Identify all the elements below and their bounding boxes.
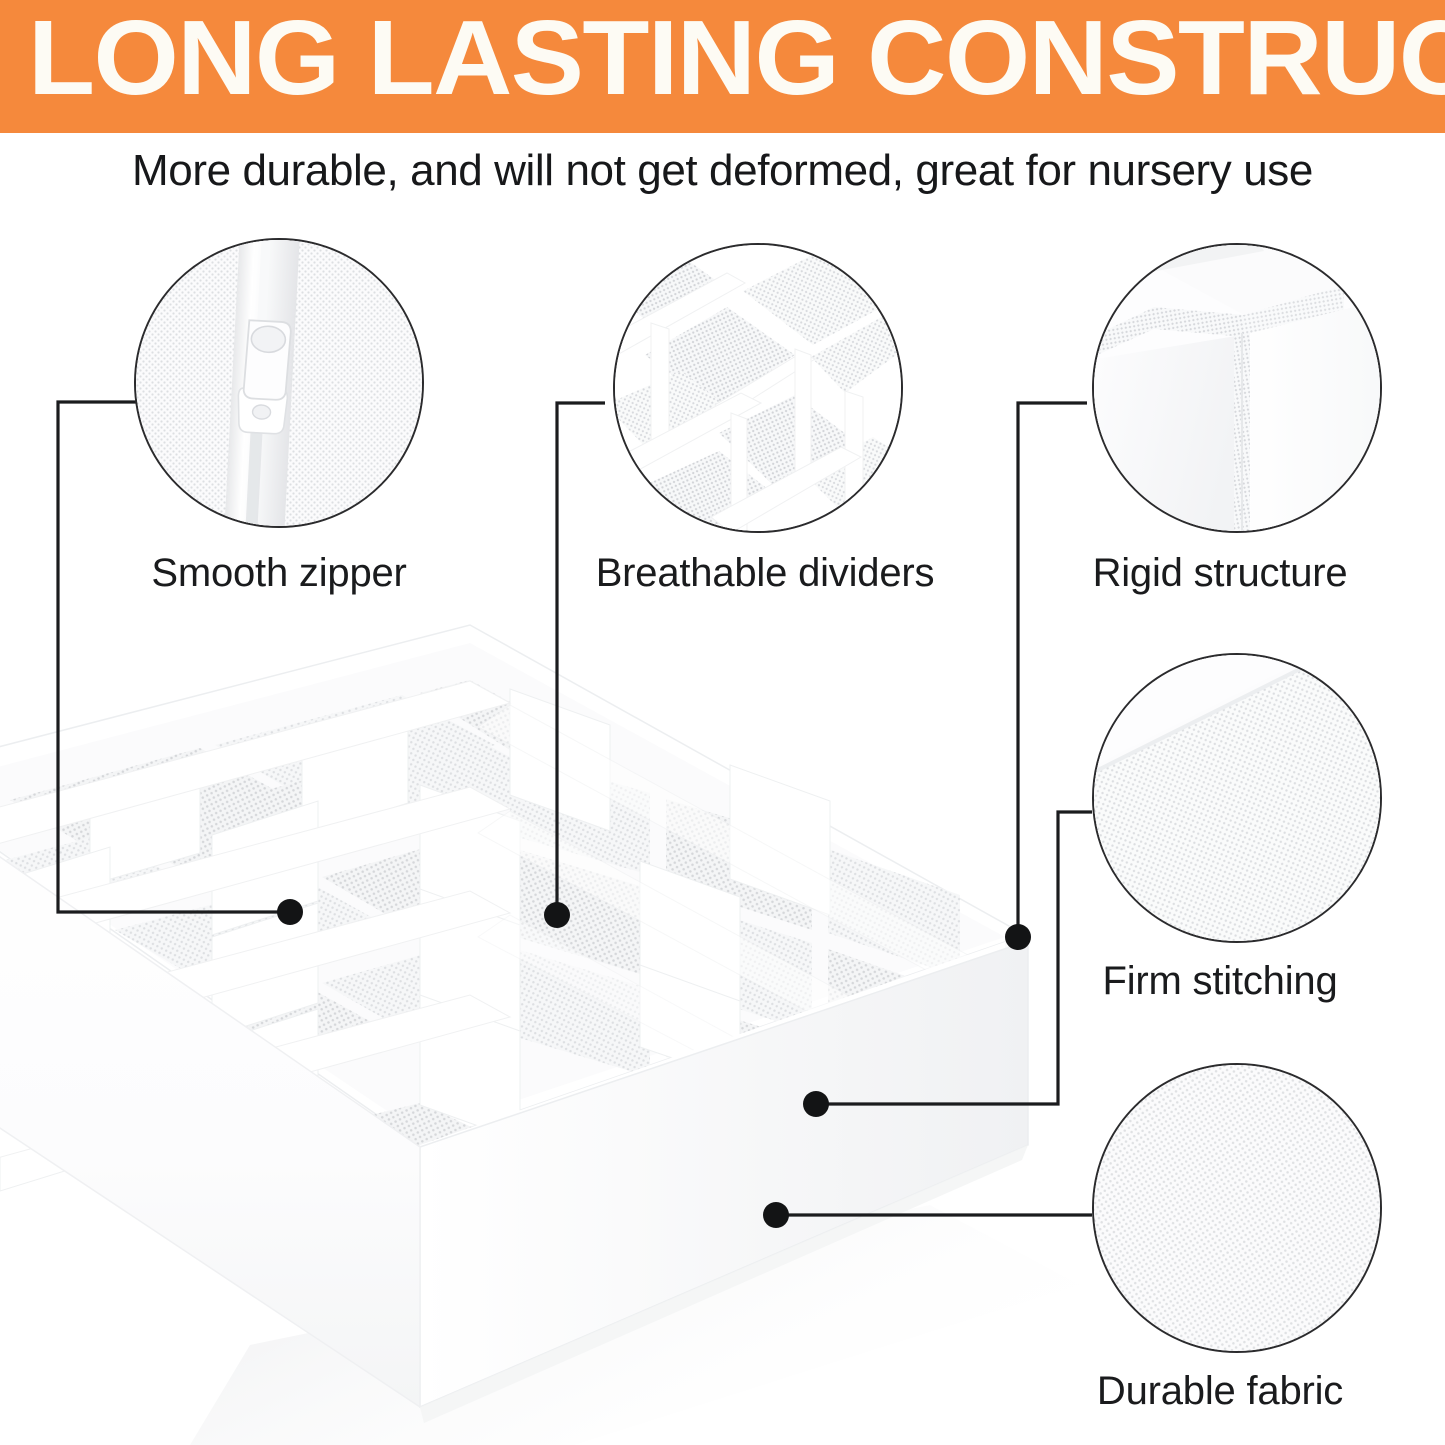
callout-label-breathable-dividers: Breathable dividers [520, 547, 1010, 599]
infographic-page: LONG LASTING CONSTRUCTION More durable, … [0, 0, 1445, 1445]
callout-image-firm-stitching [1092, 653, 1382, 943]
product-photo [0, 585, 1080, 1445]
callout-image-rigid-structure [1092, 243, 1382, 533]
callout-image-smooth-zipper [134, 238, 424, 528]
callout-label-rigid-structure: Rigid structure [1000, 547, 1440, 599]
page-subtitle: More durable, and will not get deformed,… [0, 140, 1445, 202]
callout-label-smooth-zipper: Smooth zipper [34, 547, 524, 599]
page-title: LONG LASTING CONSTRUCTION [28, 0, 1445, 125]
header-banner: LONG LASTING CONSTRUCTION [0, 0, 1445, 133]
callout-image-durable-fabric [1092, 1063, 1382, 1353]
callout-label-durable-fabric: Durable fabric [1000, 1365, 1440, 1417]
callout-image-breathable-dividers [613, 243, 903, 533]
callout-label-firm-stitching: Firm stitching [1000, 955, 1440, 1007]
product-illustration [0, 585, 1080, 1445]
